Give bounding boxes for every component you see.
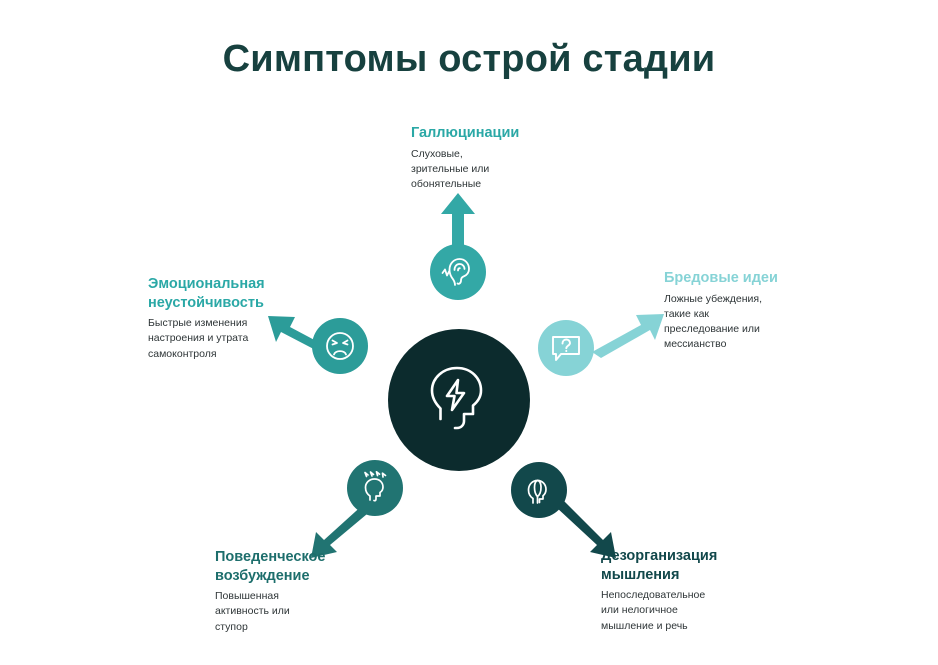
heading-delusions: Бредовые идеи bbox=[664, 269, 854, 288]
desc-emotional: Быстрые изменения настроения и утрата са… bbox=[148, 316, 328, 362]
infographic-canvas: Симптомы острой стадии bbox=[0, 0, 938, 665]
desc-delusions: Ложные убеждения, такие как преследовани… bbox=[664, 292, 854, 353]
text-delusions: Бредовые идеи Ложные убеждения, такие ка… bbox=[664, 269, 854, 352]
heading-behavior: Поведенческое возбуждение bbox=[215, 548, 415, 585]
node-hallucinations[interactable] bbox=[430, 244, 486, 300]
heading-hallucinations: Галлюцинации bbox=[411, 124, 601, 143]
text-thinking: Дезорганизация мышления Непоследовательн… bbox=[601, 547, 811, 634]
desc-behavior: Повышенная активность или ступор bbox=[215, 589, 415, 635]
symptom-diagram: Галлюцинации Слуховые, зрительные или об… bbox=[0, 0, 938, 665]
text-emotional: Эмоциональная неустойчивость Быстрые изм… bbox=[148, 275, 328, 362]
two-heads-icon bbox=[522, 474, 556, 506]
heading-thinking: Дезорганизация мышления bbox=[601, 547, 811, 584]
desc-hallucinations: Слуховые, зрительные или обонятельные bbox=[411, 147, 601, 193]
desc-thinking: Непоследовательное или нелогичное мышлен… bbox=[601, 588, 811, 634]
text-hallucinations: Галлюцинации Слуховые, зрительные или об… bbox=[411, 124, 601, 192]
ear-soundwave-icon bbox=[441, 255, 475, 289]
heading-emotional: Эмоциональная неустойчивость bbox=[148, 275, 328, 312]
node-behavior[interactable] bbox=[347, 460, 403, 516]
node-delusions[interactable] bbox=[538, 320, 594, 376]
center-node[interactable] bbox=[388, 329, 530, 471]
node-thinking[interactable] bbox=[511, 462, 567, 518]
text-behavior: Поведенческое возбуждение Повышенная акт… bbox=[215, 548, 415, 635]
agitated-head-icon bbox=[358, 471, 392, 505]
head-lightning-icon bbox=[426, 364, 492, 436]
speech-bubble-question-icon bbox=[549, 332, 583, 364]
distressed-face-icon bbox=[323, 329, 357, 363]
arrow-up-right bbox=[592, 314, 664, 358]
